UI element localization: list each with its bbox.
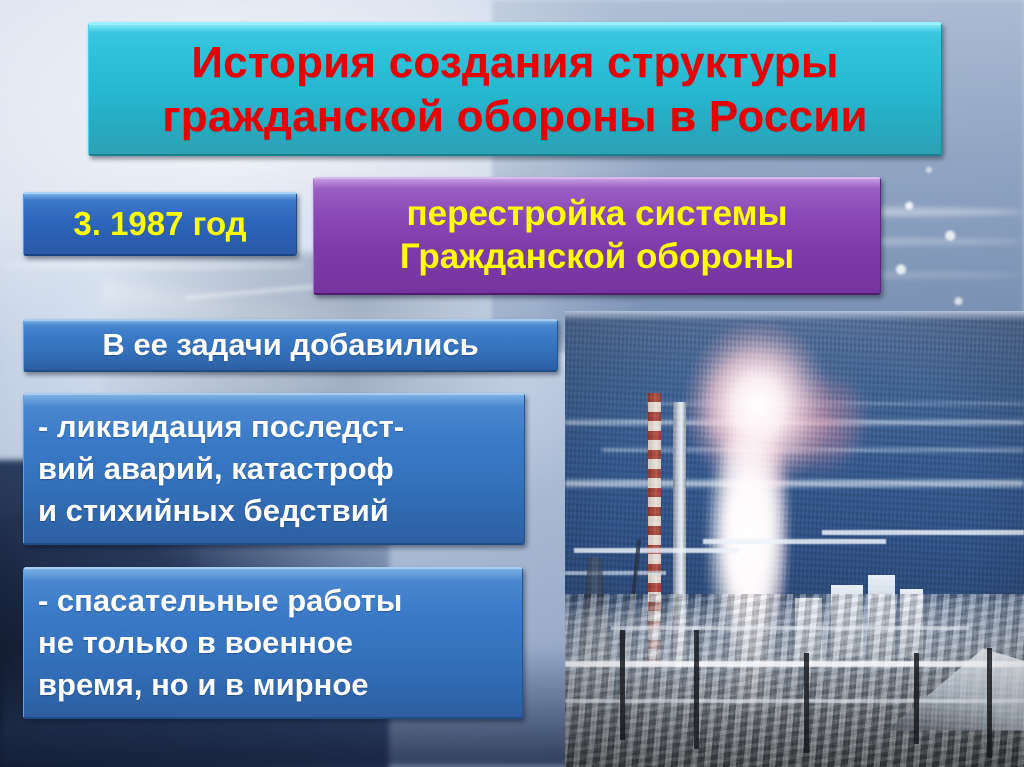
background-wave	[0, 261, 307, 270]
bullet-box-liquidation: - ликвидация последст- вий аварий, катас…	[23, 393, 525, 545]
title-line-1: История создания структуры	[191, 36, 838, 90]
bullet-1-line-2: вий аварий, катастроф	[38, 448, 394, 490]
topic-line-1: перестройка системы	[407, 193, 788, 236]
title-line-2: гражданской обороны в России	[162, 90, 867, 144]
bullet-2-line-1: - спасательные работы	[38, 580, 402, 622]
bullet-1-line-3: и стихийных бедствий	[38, 490, 389, 532]
slide-title: История создания структуры гражданской о…	[88, 22, 942, 156]
topic-box: перестройка системы Гражданской обороны	[313, 177, 881, 295]
bullet-1-line-1: - ликвидация последст-	[38, 406, 404, 448]
year-label-text: 3. 1987 год	[73, 206, 246, 242]
intro-box: В ее задачи добавились	[23, 319, 558, 372]
topic-line-2: Гражданской обороны	[400, 236, 794, 279]
bullet-2-line-2: не только в военное	[38, 622, 353, 664]
explosion-photo	[565, 311, 1024, 767]
year-label: 3. 1987 год	[23, 192, 297, 256]
presentation-slide: История создания структуры гражданской о…	[0, 0, 1024, 767]
photo-vignette	[565, 311, 1024, 767]
photo-top-fade	[565, 311, 1024, 321]
intro-text: В ее задачи добавились	[102, 328, 478, 362]
bullet-2-line-3: время, но и в мирное	[38, 664, 369, 706]
bullet-box-rescue: - спасательные работы не только в военно…	[23, 567, 523, 719]
